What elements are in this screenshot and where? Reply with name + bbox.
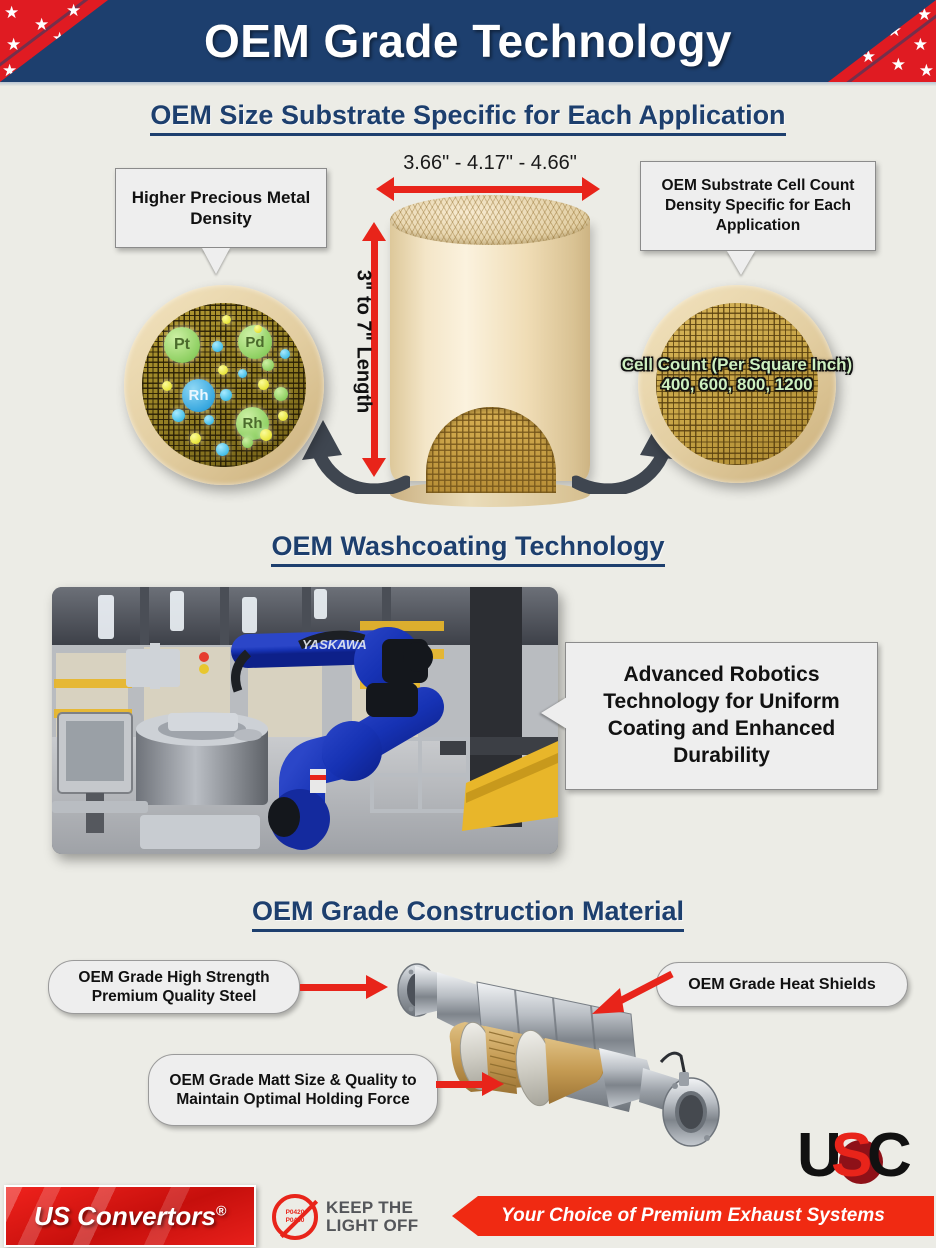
arrow-head-steel	[366, 975, 388, 999]
callout-text: OEM Substrate Cell Count Density Specifi…	[649, 176, 867, 236]
length-arrow-top-head	[362, 222, 386, 241]
callout-tail	[727, 251, 755, 275]
callout-text: OEM Grade Heat Shields	[688, 976, 876, 994]
metal-dot	[172, 409, 185, 422]
metal-dot	[190, 433, 201, 444]
cell-count-label: Cell Count (Per Square Inch)	[576, 355, 898, 375]
keep-the-light-off-badge: P0420 P0430 KEEP THE LIGHT OFF	[272, 1193, 447, 1241]
callout-text: OEM Grade Matt Size & Quality to Maintai…	[159, 1071, 427, 1110]
callout-text: Advanced Robotics Technology for Uniform…	[578, 662, 865, 770]
us-convertors-logo: US Convertors®	[4, 1185, 256, 1247]
cylinder-top-honeycomb	[390, 195, 590, 245]
metal-dot	[254, 325, 262, 333]
honeycomb-mesh: Pt Pd Rh Rh	[142, 303, 306, 467]
substrate-cylinder	[390, 195, 590, 495]
section-heading-construction-material: OEM Grade Construction Material	[0, 896, 936, 927]
metal-dot	[212, 341, 223, 352]
section-heading-text: OEM Washcoating Technology	[271, 531, 664, 567]
metal-dot	[274, 387, 288, 401]
metal-particle-pt: Pt	[164, 327, 200, 363]
metal-dot	[242, 437, 253, 448]
footer-tagline: Your Choice of Premium Exhaust Systems	[452, 1196, 934, 1236]
metal-dot	[280, 349, 290, 359]
arrow-head-matt	[482, 1072, 504, 1096]
no-symbol-icon: P0420 P0430	[272, 1194, 318, 1240]
callout-tail	[202, 248, 230, 274]
page-title: OEM Grade Technology	[0, 0, 936, 82]
substrate-face-precious-metals: Pt Pd Rh Rh	[124, 285, 324, 485]
metal-dot	[216, 443, 229, 456]
arrow-line-matt	[436, 1081, 486, 1088]
section-heading-text: OEM Size Substrate Specific for Each App…	[150, 100, 785, 136]
svg-text:C: C	[867, 1121, 912, 1188]
metal-dot	[238, 369, 247, 378]
metal-dot	[258, 379, 269, 390]
usc-logo: U S C	[795, 1118, 923, 1188]
callout-higher-precious-metal-density: Higher Precious Metal Density	[115, 168, 327, 248]
metal-dot	[222, 315, 231, 324]
callout-advanced-robotics: Advanced Robotics Technology for Uniform…	[565, 642, 878, 790]
metal-dot	[262, 359, 274, 371]
metal-dot	[162, 381, 172, 391]
metal-dot	[278, 411, 288, 421]
callout-text: Higher Precious Metal Density	[124, 187, 318, 230]
section-heading-size-substrate: OEM Size Substrate Specific for Each App…	[0, 100, 936, 131]
page-header: ★ ★ ★ ★ ★ ★ ★ ★ ★ ★ ★ ★ ★ OEM Grade Tech…	[0, 0, 936, 82]
tagline-text: Your Choice of Premium Exhaust Systems	[501, 1205, 885, 1227]
keep-light-text: KEEP THE LIGHT OFF	[326, 1199, 418, 1235]
metal-particle-rh-blue: Rh	[182, 379, 215, 412]
section-heading-washcoating: OEM Washcoating Technology	[0, 531, 936, 562]
metal-dot	[220, 389, 232, 401]
callout-text: OEM Grade High Strength Premium Quality …	[59, 968, 289, 1007]
metal-dot	[218, 365, 228, 375]
arrow-heat-shields	[586, 970, 676, 1020]
registered-mark: ®	[216, 1202, 226, 1218]
metal-dot	[204, 415, 214, 425]
cell-count-values: 400, 600, 800, 1200	[576, 375, 898, 395]
dimension-width-label: 3.66" - 4.17" - 4.66"	[370, 152, 610, 175]
callout-substrate-cell-count-density: OEM Substrate Cell Count Density Specifi…	[640, 161, 876, 251]
header-divider	[0, 82, 936, 86]
arrow-line-steel	[300, 984, 370, 991]
callout-matt-size-quality: OEM Grade Matt Size & Quality to Maintai…	[148, 1054, 438, 1126]
section-heading-text: OEM Grade Construction Material	[252, 896, 684, 932]
width-dimension-line	[392, 186, 584, 193]
brand-name: US Convertors®	[34, 1201, 226, 1232]
svg-text:YASKAWA: YASKAWA	[302, 637, 367, 652]
callout-heat-shields: OEM Grade Heat Shields	[656, 962, 908, 1007]
metal-dot	[260, 429, 272, 441]
callout-high-strength-steel: OEM Grade High Strength Premium Quality …	[48, 960, 300, 1014]
robotics-photo: YASKAWA	[52, 587, 558, 854]
callout-tail	[541, 697, 567, 729]
